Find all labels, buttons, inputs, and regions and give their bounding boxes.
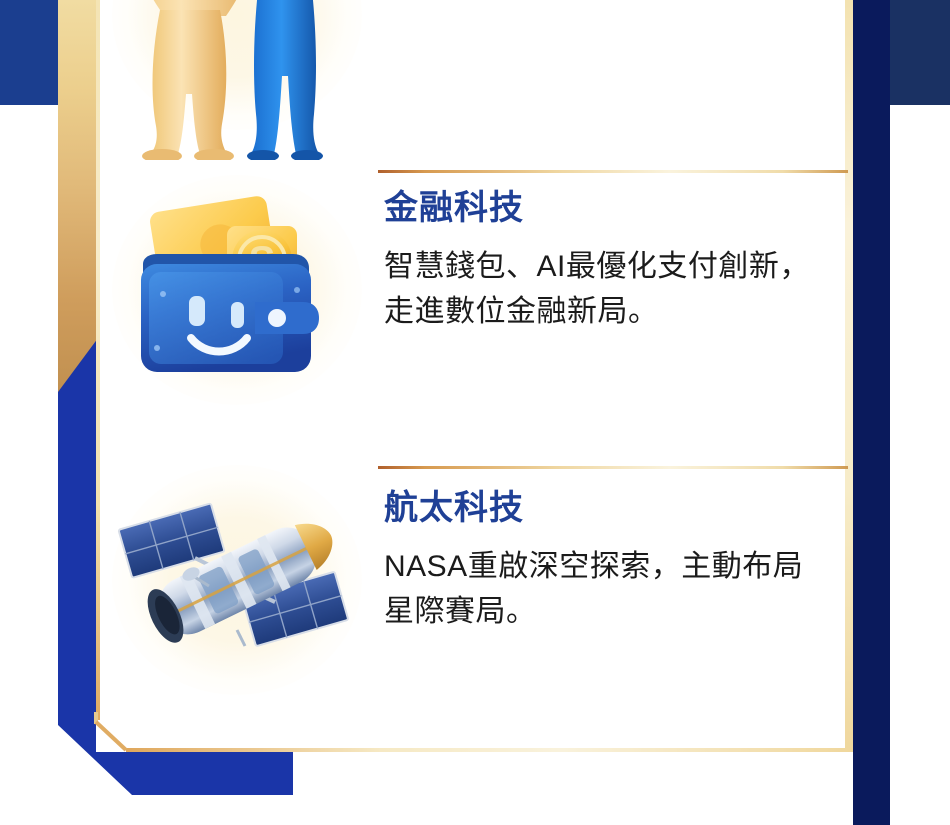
section-fintech: S 金融科技 智慧錢包、AI最優化支付創新，走進數位金 bbox=[96, 190, 853, 465]
section-body: 智慧錢包、AI最優化支付創新，走進數位金融新局。 bbox=[384, 245, 831, 334]
decor-block-top-right bbox=[890, 0, 950, 105]
section-weight-loss: 從減肥新藥到預防醫學，你的投資決定人類腰圍。 bbox=[96, 0, 853, 170]
section-title: 金融科技 bbox=[384, 190, 831, 227]
section-aerospace: 航太科技 NASA重啟深空探索，主動布局星際賽局。 bbox=[96, 490, 853, 750]
section-text-block: 航太科技 NASA重啟深空探索，主動布局星際賽局。 bbox=[378, 490, 853, 634]
section-body: NASA重啟深空探索，主動布局星際賽局。 bbox=[384, 545, 831, 634]
obesity-measuring-tape-illustration bbox=[96, 0, 378, 160]
poster-canvas: 從減肥新藥到預防醫學，你的投資決定人類腰圍。 bbox=[0, 0, 950, 825]
section-text-block: 金融科技 智慧錢包、AI最優化支付創新，走進數位金融新局。 bbox=[378, 190, 853, 334]
satellite-illustration bbox=[96, 490, 378, 670]
section-title: 航太科技 bbox=[384, 490, 831, 527]
decor-band-right bbox=[853, 0, 890, 825]
decor-block-top-left bbox=[0, 0, 58, 105]
section-divider-1 bbox=[378, 170, 848, 173]
smart-wallet-illustration: S bbox=[96, 190, 378, 390]
section-divider-2 bbox=[378, 466, 848, 469]
